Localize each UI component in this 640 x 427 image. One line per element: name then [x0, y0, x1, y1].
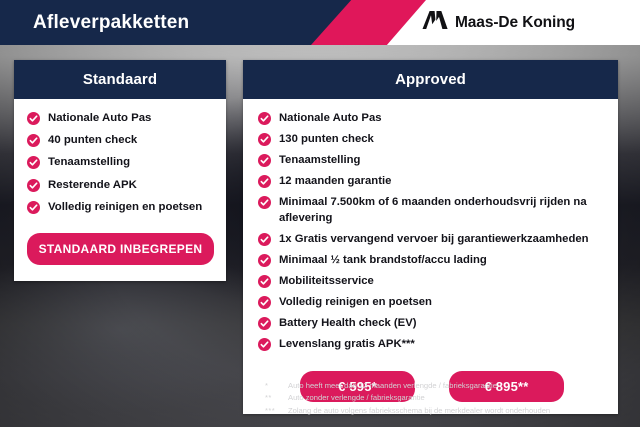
package-card-approved: Approved Nationale Auto Pas 130 punten c… [243, 60, 618, 414]
footnote-single-asterisk: * Auto heeft meer dan 12 maanden verleng… [265, 380, 625, 392]
afleverpakketten-screen: Afleverpakketten Maas-De Koning Standaar… [0, 0, 640, 427]
feature-label: 40 punten check [48, 132, 137, 148]
feature-label: Tenaamstelling [48, 154, 130, 170]
feature-label: Volledig reinigen en poetsen [279, 294, 432, 310]
top-bar: Afleverpakketten Maas-De Koning [0, 0, 640, 45]
feature-label: Levenslang gratis APK*** [279, 336, 415, 352]
footnote-text: Zolang de auto volgens fabrieksschema bi… [288, 405, 550, 417]
package-card-standaard: Standaard Nationale Auto Pas 40 punten c… [14, 60, 226, 281]
list-item: Tenaamstelling [258, 152, 606, 168]
footnote-mark: * [265, 380, 288, 392]
feature-label: Battery Health check (EV) [279, 315, 417, 331]
check-circle-icon [27, 201, 40, 214]
check-circle-icon [27, 134, 40, 147]
maas-de-koning-m-logo-icon [422, 10, 448, 35]
check-circle-icon [258, 296, 271, 309]
list-item: 130 punten check [258, 131, 606, 147]
footnote-text: Auto zonder verlengde / fabrieksgarantie [288, 392, 425, 404]
list-item: Volledig reinigen en poetsen [27, 199, 214, 215]
feature-label: Nationale Auto Pas [48, 110, 151, 126]
brand-name: Maas-De Koning [455, 14, 575, 32]
list-item: Resterende APK [27, 177, 214, 193]
feature-label: 130 punten check [279, 131, 374, 147]
feature-label: Mobiliteitsservice [279, 273, 374, 289]
feature-label: 12 maanden garantie [279, 173, 391, 189]
page-title: Afleverpakketten [33, 0, 189, 45]
footnote-triple-asterisk: *** Zolang de auto volgens fabrieksschem… [265, 405, 625, 417]
list-item: 40 punten check [27, 132, 214, 148]
list-item: Levenslang gratis APK*** [258, 336, 606, 352]
feature-label: Resterende APK [48, 177, 137, 193]
feature-label: Minimaal ½ tank brandstof/accu lading [279, 252, 487, 268]
feature-label: Volledig reinigen en poetsen [48, 199, 202, 215]
check-circle-icon [258, 317, 271, 330]
feature-label: Nationale Auto Pas [279, 110, 382, 126]
card-heading-approved: Approved [243, 60, 618, 99]
list-item: Tenaamstelling [27, 154, 214, 170]
list-item: Minimaal 7.500km of 6 maanden onderhouds… [258, 194, 606, 226]
card-body-approved: Nationale Auto Pas 130 punten check Tena… [243, 99, 618, 414]
footnote-mark: *** [265, 405, 288, 417]
footnote-mark: ** [265, 392, 288, 404]
card-heading-standaard: Standaard [14, 60, 226, 99]
brand-logo: Maas-De Koning [422, 0, 575, 45]
footnote-text: Auto heeft meer dan 12 maanden verlengde… [288, 380, 497, 392]
list-item: Mobiliteitsservice [258, 273, 606, 289]
list-item: Volledig reinigen en poetsen [258, 294, 606, 310]
list-item: Nationale Auto Pas [27, 110, 214, 126]
feature-label: Minimaal 7.500km of 6 maanden onderhouds… [279, 194, 606, 226]
check-circle-icon [27, 179, 40, 192]
check-circle-icon [258, 175, 271, 188]
check-circle-icon [258, 254, 271, 267]
card-body-standaard: Nationale Auto Pas 40 punten check Tenaa… [14, 99, 226, 281]
footnote-list: * Auto heeft meer dan 12 maanden verleng… [265, 380, 625, 417]
list-item: Minimaal ½ tank brandstof/accu lading [258, 252, 606, 268]
check-circle-icon [258, 233, 271, 246]
list-item: Battery Health check (EV) [258, 315, 606, 331]
list-item: Nationale Auto Pas [258, 110, 606, 126]
check-circle-icon [258, 338, 271, 351]
feature-label: 1x Gratis vervangend vervoer bij garanti… [279, 231, 589, 247]
standaard-inbegrepen-button[interactable]: STANDAARD INBEGREPEN [27, 233, 214, 265]
check-circle-icon [258, 196, 271, 209]
check-circle-icon [258, 112, 271, 125]
list-item: 1x Gratis vervangend vervoer bij garanti… [258, 231, 606, 247]
check-circle-icon [258, 133, 271, 146]
feature-list-approved: Nationale Auto Pas 130 punten check Tena… [258, 110, 606, 352]
check-circle-icon [27, 156, 40, 169]
list-item: 12 maanden garantie [258, 173, 606, 189]
footnote-double-asterisk: ** Auto zonder verlengde / fabrieksgaran… [265, 392, 625, 404]
check-circle-icon [258, 154, 271, 167]
check-circle-icon [27, 112, 40, 125]
check-circle-icon [258, 275, 271, 288]
feature-list-standaard: Nationale Auto Pas 40 punten check Tenaa… [27, 110, 214, 215]
feature-label: Tenaamstelling [279, 152, 360, 168]
